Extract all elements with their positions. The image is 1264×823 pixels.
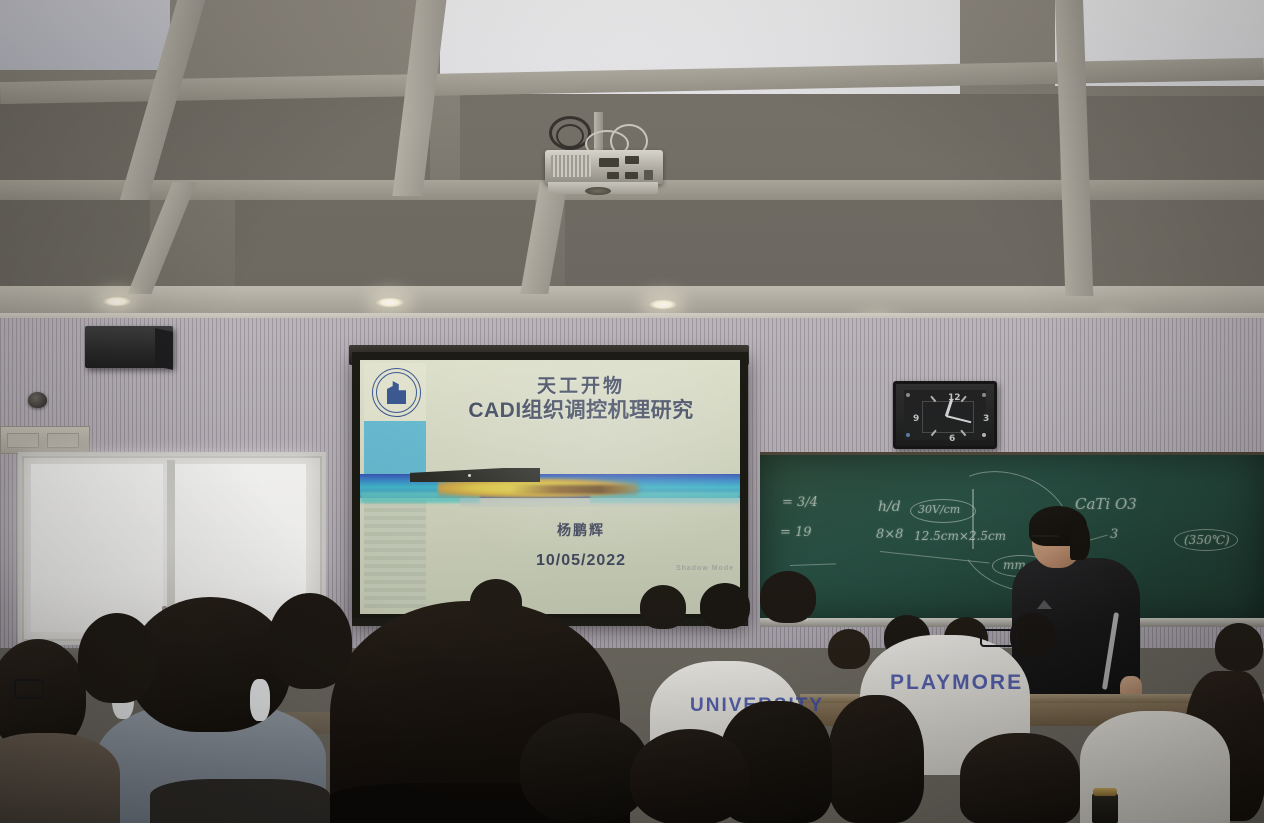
slide-title-line1: 天工开物: [426, 376, 736, 397]
projector-port: [644, 170, 653, 180]
window-pane-right: [174, 464, 306, 632]
projection-screen-bottom-bar: [352, 618, 748, 626]
audience-body: [150, 779, 330, 823]
slide-title-line2: CADI组织调控机理研究: [426, 399, 736, 423]
chalk-note: 8×8: [876, 527, 903, 542]
clock-screw: [906, 433, 910, 437]
chalk-line: [972, 489, 974, 549]
ceiling-bright-panel-left: [0, 0, 170, 70]
wall-clock: 12 3 6 9: [893, 381, 997, 449]
downlight: [375, 297, 405, 308]
wall-speaker-side: [155, 328, 173, 370]
light-switch-panel[interactable]: [0, 426, 90, 454]
slide-author: 杨鹏辉: [426, 520, 736, 540]
downlight: [102, 296, 132, 307]
clock-number-9: 9: [913, 414, 919, 424]
water-bottle[interactable]: [1092, 793, 1118, 823]
presenter-hair-back: [1070, 520, 1090, 560]
chalk-note: = 19: [780, 525, 812, 540]
ceiling-projector: [545, 150, 663, 184]
desk-edge: [800, 694, 1264, 703]
audience-body: [650, 661, 800, 781]
water-bottle-cap: [1093, 788, 1117, 796]
clock-screw: [982, 393, 986, 397]
light-switch[interactable]: [47, 433, 79, 448]
audience-head: [0, 639, 86, 751]
chalk-note: CaTi O3: [1075, 495, 1137, 513]
heatmap-core: [510, 485, 645, 494]
audience-body: [0, 733, 120, 823]
chalk-note: 3: [1110, 527, 1118, 542]
window-handle[interactable]: [162, 606, 167, 628]
glasses-icon: [14, 679, 44, 699]
projector-cable: [556, 124, 584, 148]
clock-screw: [906, 393, 910, 397]
simulation-plate: [460, 498, 740, 507]
clock-face: 12 3 6 9: [904, 390, 986, 440]
dome-camera-icon: [28, 392, 47, 408]
slide-watermark: Shadow Mode: [676, 565, 734, 572]
projector-port: [607, 172, 619, 179]
university-seal-logo: [372, 368, 421, 417]
desk-row: [800, 700, 1264, 726]
chalk-note: = 3/4: [782, 495, 818, 510]
presenter-glasses-icon: [1031, 535, 1059, 545]
projector-port: [625, 156, 639, 164]
clock-screw: [982, 433, 986, 437]
light-switch[interactable]: [7, 433, 39, 448]
downlight: [648, 299, 678, 310]
slide-simulation-figure: [360, 468, 740, 508]
simulation-marker: [468, 474, 471, 477]
seal-building-icon: [387, 381, 406, 404]
clock-number-6: 6: [949, 434, 955, 444]
desk-row: [258, 712, 558, 734]
audience-body: [330, 783, 630, 823]
window-pane-left: [31, 464, 163, 632]
projector-port: [625, 172, 638, 179]
chalk-line: [790, 563, 836, 566]
ceiling-coffer: [0, 196, 150, 286]
ceiling-coffer: [565, 200, 1065, 290]
audience-head: [960, 733, 1080, 823]
ceiling-coffer: [235, 196, 535, 286]
clock-number-3: 3: [983, 414, 989, 424]
window-mullion: [167, 460, 175, 637]
lecture-hall-photo: 12 3 6 9 = 3/4 = 19 h/d 30V/cm 8×8 12.5c…: [0, 0, 1264, 823]
classroom-window: [18, 452, 326, 645]
chalk-note: h/d: [878, 499, 901, 515]
chalkboard-eraser[interactable]: [782, 612, 808, 621]
projector-port: [599, 158, 619, 167]
shirt-text-playmore: PLAYMORE: [890, 671, 1023, 695]
face-mask: [112, 675, 134, 719]
slide-title: 天工开物 CADI组织调控机理研究: [426, 376, 736, 423]
chalk-ellipse: [1174, 529, 1238, 551]
slide-left-texture: [364, 496, 426, 608]
projector-vent: [551, 155, 591, 177]
audience-head: [630, 729, 750, 823]
simulation-tool-shape: [410, 468, 540, 482]
presentation-slide: 天工开物 CADI组织调控机理研究 杨鹏辉 10/05/2022 Shadow …: [360, 360, 740, 614]
projector-lens: [585, 187, 611, 195]
